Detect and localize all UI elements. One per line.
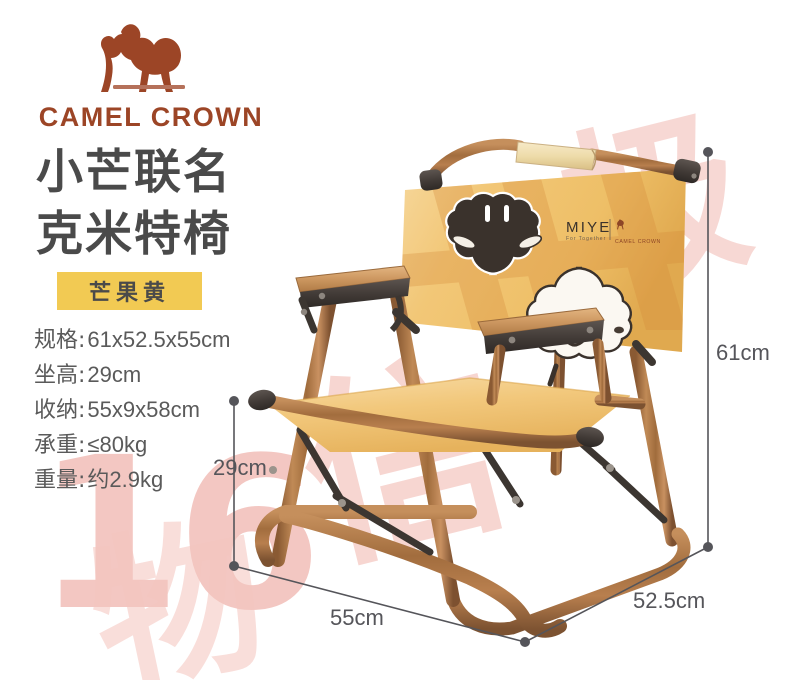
dimension-overlay <box>0 0 800 680</box>
dimension-label-width: 55cm <box>330 605 384 631</box>
dimension-label-depth: 52.5cm <box>633 588 705 614</box>
dimension-label-height: 61cm <box>716 340 770 366</box>
product-spec-image: 极 信 物 16 <box>0 0 800 680</box>
dimension-label-seat-height: 29cm <box>213 455 267 481</box>
